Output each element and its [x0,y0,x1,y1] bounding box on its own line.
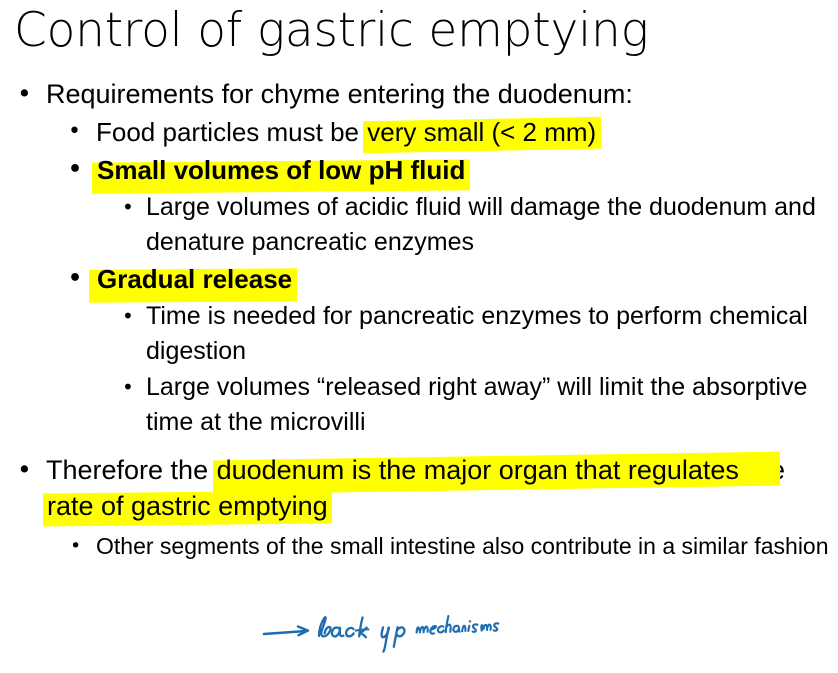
bullet-glyph: • [17,452,32,488]
bullet-glyph: • [17,76,32,112]
list-item-small-volumes: • Small volumes of low pH fluid [0,152,838,188]
list-item-text: Time is needed for pancreatic enzymes to… [146,299,838,369]
plain-text: Food particles must be [96,117,366,147]
list-item-text: Therefore the duodenum is the major orga… [46,452,838,524]
plain-text-lead: Therefore the [46,455,216,485]
list-item-food-particles: • Food particles must be very small (< 2… [0,114,838,150]
highlight-rate-of-gastric-emptying: rate of gastric emptying [46,491,329,521]
bullet-glyph: • [70,530,81,562]
list-item-text: Requirements for chyme entering the duod… [46,76,838,112]
slide-canvas: Control of gastric emptying • Requiremen… [0,0,838,673]
list-item-text: Gradual release [96,261,838,297]
list-item-text: Large volumes of acidic fluid will damag… [146,190,838,260]
bullet-glyph: • [68,114,81,150]
page-title: Control of gastric emptying [14,2,824,60]
bullet-glyph: • [122,190,134,225]
highlight-gradual-release: Gradual release [96,264,293,294]
list-item-requirements: • Requirements for chyme entering the du… [0,76,838,112]
highlight-small-volumes: Small volumes of low pH fluid [96,155,466,185]
list-item-other-segments: • Other segments of the small intestine … [0,530,838,562]
bullet-glyph: • [122,370,134,405]
list-item-text: Large volumes “released right away” will… [146,370,838,440]
list-item-time-needed: • Time is needed for pancreatic enzymes … [0,299,838,369]
list-item-gradual-release: • Gradual release [0,261,838,297]
list-item-text: Food particles must be very small (< 2 m… [96,114,838,150]
slide-body: • Requirements for chyme entering the du… [0,76,838,562]
handwritten-annotation [262,600,532,656]
highlight-very-small: very small (< 2 mm) [366,117,597,147]
highlight-duodenum-regulates: duodenum is the major organ that regulat… [216,455,740,485]
list-item-released-right-away: • Large volumes “released right away” wi… [0,370,838,440]
bullet-glyph: • [68,152,82,188]
list-item-acidic-fluid: • Large volumes of acidic fluid will dam… [0,190,838,260]
list-item-text: Small volumes of low pH fluid [96,152,838,188]
bullet-glyph: • [68,261,82,297]
list-item-text: Other segments of the small intestine al… [96,530,838,562]
bullet-glyph: • [122,299,134,334]
list-item-therefore: • Therefore the duodenum is the major or… [0,452,838,524]
